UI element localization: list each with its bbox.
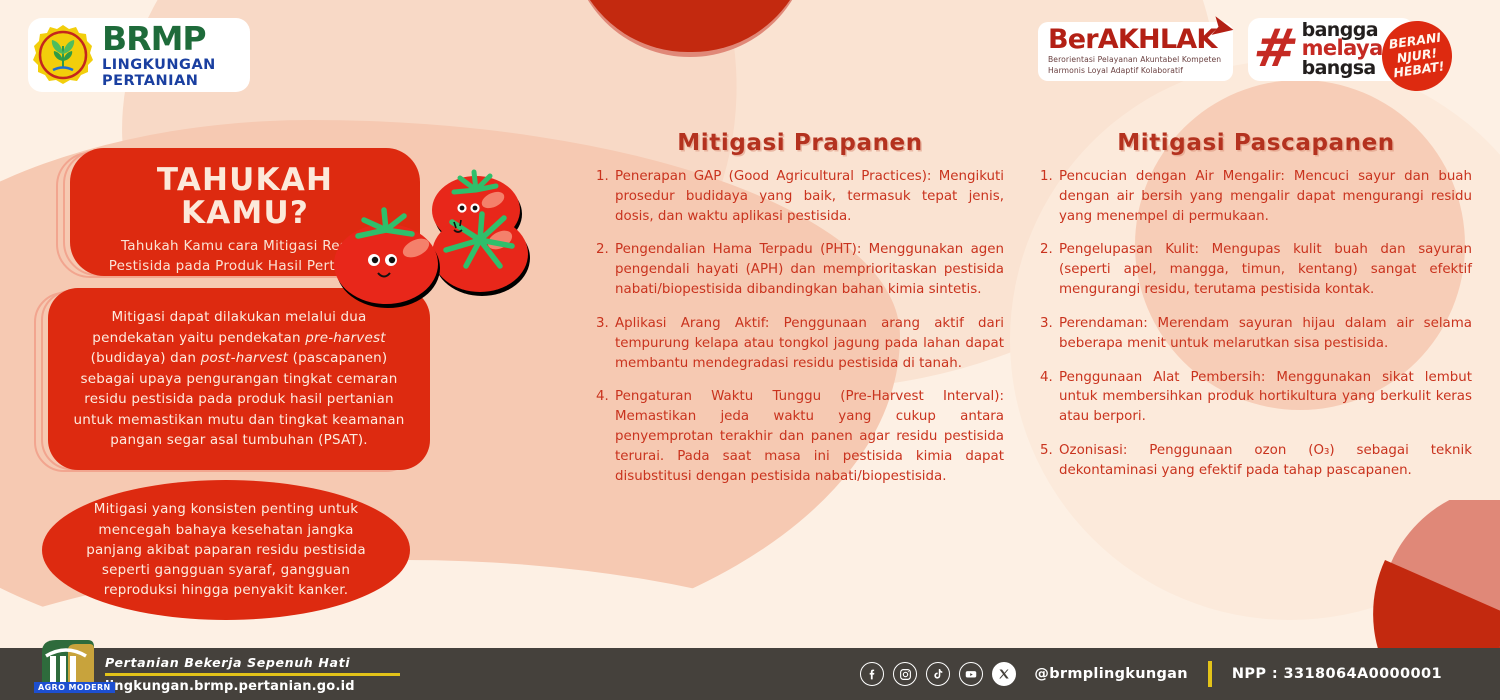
instagram-icon[interactable] — [893, 662, 917, 686]
list-item: Pengaturan Waktu Tunggu (Pre-Harvest Int… — [596, 387, 1004, 486]
x-twitter-icon[interactable] — [992, 662, 1016, 686]
youtube-icon[interactable] — [959, 662, 983, 686]
list-item: Aplikasi Arang Aktif: Penggunaan arang a… — [596, 314, 1004, 373]
brmp-wordmark: BRMP LINGKUNGAN PERTANIAN — [102, 22, 216, 88]
health-warning-panel: Mitigasi yang konsisten penting untuk me… — [42, 480, 410, 620]
berakhlak-logo: ➤ BerAKHLAK Berorientasi Pelayanan Akunt… — [1038, 22, 1233, 81]
list-item: Pengelupasan Kulit: Mengupas kulit buah … — [1040, 240, 1472, 299]
berakhlak-title: BerAKHLAK — [1048, 26, 1221, 53]
mitigasi-description-panel: Mitigasi dapat dilakukan melalui dua pen… — [48, 288, 430, 470]
brmp-logo-sub2: PERTANIAN — [102, 74, 216, 89]
heading-mitigasi-pascapanen: Mitigasi Pascapanen — [1040, 130, 1472, 156]
brmp-logo-sub1: LINGKUNGAN — [102, 58, 216, 73]
facebook-icon[interactable] — [860, 662, 884, 686]
footer-url: lingkungan.brmp.pertanian.go.id — [105, 679, 400, 694]
tiktok-icon[interactable] — [926, 662, 950, 686]
tomato-characters-illustration — [330, 160, 540, 310]
berakhlak-sub-line2: Harmonis Loyal Adaptif Kolaboratif — [1048, 66, 1221, 75]
list-item: Pencucian dengan Air Mengalir: Mencuci s… — [1040, 167, 1472, 226]
column-mitigasi-prapanen: Mitigasi Prapanen Penerapan GAP (Good Ag… — [596, 130, 1004, 501]
mitigasi-description-text: Mitigasi dapat dilakukan melalui dua pen… — [70, 307, 408, 451]
hashtag-icon: # — [1251, 27, 1302, 71]
list-item: Pengendalian Hama Terpadu (PHT): Menggun… — [596, 240, 1004, 299]
footer-divider — [105, 673, 400, 676]
desc-em2: post-harvest — [201, 350, 288, 366]
footer-vertical-divider — [1208, 661, 1212, 687]
list-item: Ozonisasi: Penggunaan ozon (O₃) sebagai … — [1040, 441, 1472, 481]
desc-em1: pre-harvest — [305, 330, 386, 346]
column-mitigasi-pascapanen: Mitigasi Pascapanen Pencucian dengan Air… — [1040, 130, 1472, 495]
tomato-slice-top-icon — [545, 0, 835, 62]
berakhlak-sub-line1: Berorientasi Pelayanan Akuntabel Kompete… — [1048, 55, 1221, 64]
footer-social-area: @brmplingkungan NPP : 3318064A0000001 — [860, 648, 1442, 700]
health-warning-text: Mitigasi yang konsisten penting untuk me… — [80, 499, 372, 600]
social-handle: @brmplingkungan — [1034, 666, 1187, 682]
heading-mitigasi-prapanen: Mitigasi Prapanen — [596, 130, 1004, 156]
desc-part2: (budidaya) dan — [91, 350, 201, 366]
pascapanen-list: Pencucian dengan Air Mengalir: Mencuci s… — [1040, 167, 1472, 481]
prapanen-list: Penerapan GAP (Good Agricultural Practic… — [596, 167, 1004, 487]
footer-bar: Pertanian Bekerja Sepenuh Hati lingkunga… — [0, 648, 1500, 700]
list-item: Perendaman: Merendam sayuran hijau dalam… — [1040, 314, 1472, 354]
brmp-logo: BRMP LINGKUNGAN PERTANIAN — [28, 18, 250, 92]
kementerian-pertanian-seal-icon — [32, 24, 94, 86]
footer-tagline: Pertanian Bekerja Sepenuh Hati — [105, 655, 400, 670]
agro-modern-badge: AGRO MODERN — [34, 682, 115, 693]
npp-number: NPP : 3318064A0000001 — [1232, 666, 1442, 682]
list-item: Penggunaan Alat Pembersih: Menggunakan s… — [1040, 368, 1472, 427]
berakhlak-swoosh-icon: ➤ — [1207, 8, 1239, 47]
infographic-poster: BRMP LINGKUNGAN PERTANIAN ➤ BerAKHLAK Be… — [0, 0, 1500, 700]
brmp-logo-main: BRMP — [102, 22, 216, 55]
list-item: Penerapan GAP (Good Agricultural Practic… — [596, 167, 1004, 226]
footer-branding: Pertanian Bekerja Sepenuh Hati lingkunga… — [105, 655, 400, 694]
